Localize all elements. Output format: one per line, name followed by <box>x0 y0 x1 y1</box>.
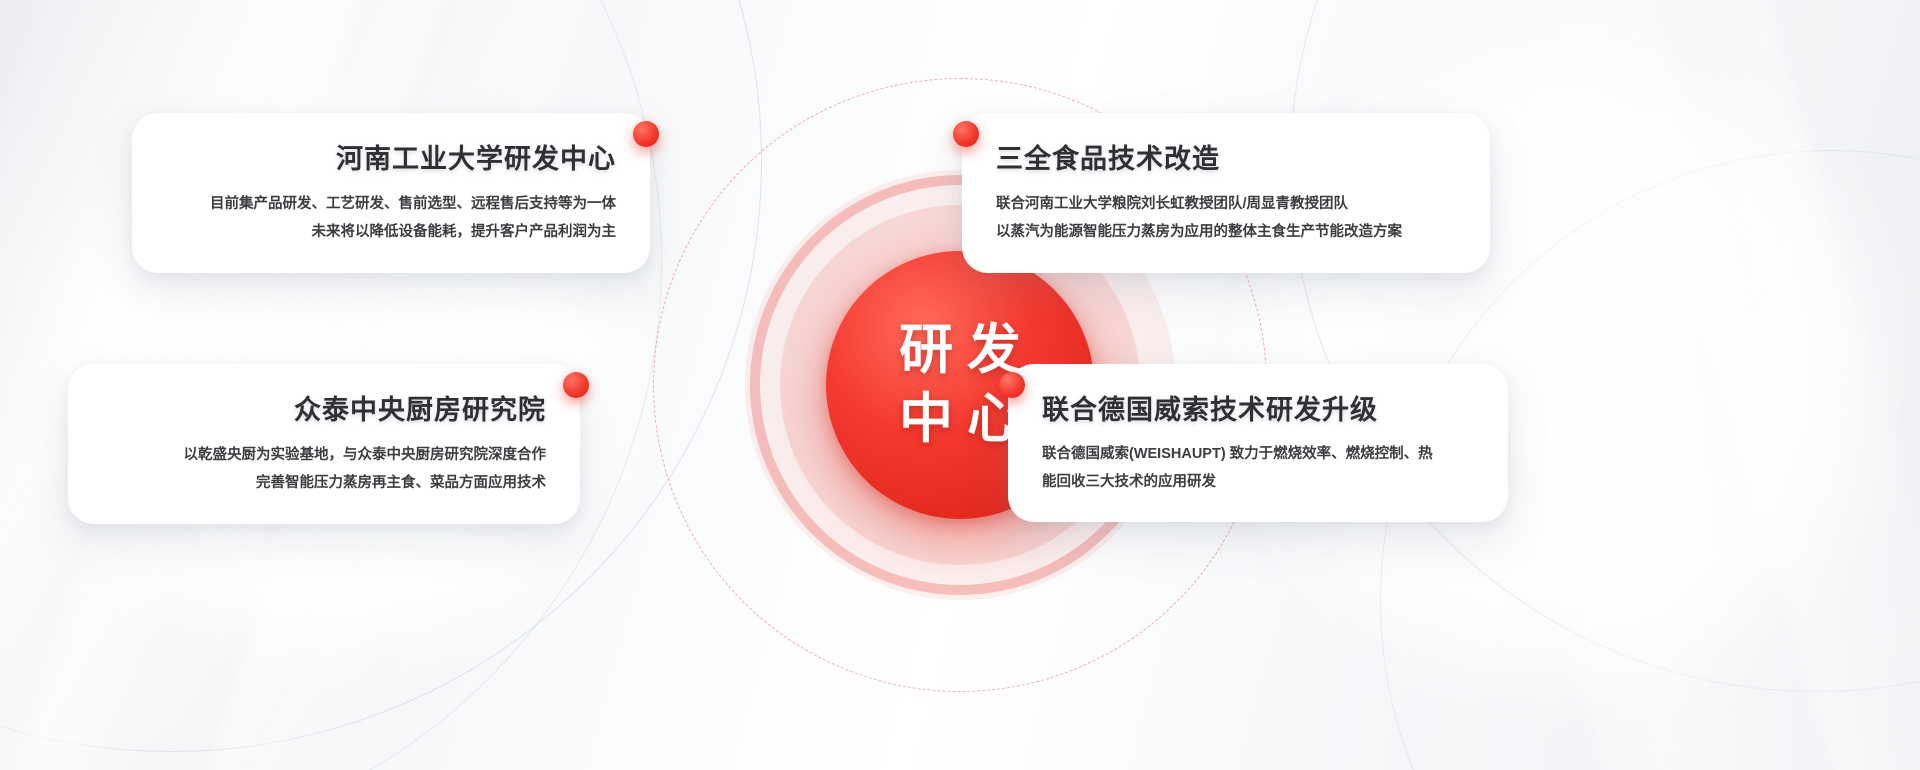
card-line: 联合德国威索(WEISHAUPT) 致力于燃烧效率、燃烧控制、热 <box>1042 441 1474 469</box>
card-line: 以乾盛央厨为实验基地，与众泰中央厨房研究院深度合作 <box>102 441 546 469</box>
card-dot-icon <box>953 121 979 147</box>
card-henan-university-rd-center[interactable]: 河南工业大学研发中心 目前集产品研发、工艺研发、售前选型、远程售后支持等为一体 … <box>132 113 650 273</box>
card-weishaupt-joint-rd-upgrade[interactable]: 联合德国威索技术研发升级 联合德国威索(WEISHAUPT) 致力于燃烧效率、燃… <box>1008 364 1508 522</box>
card-dot-icon <box>999 372 1025 398</box>
card-title: 众泰中央厨房研究院 <box>102 388 546 427</box>
card-dot-icon <box>633 121 659 147</box>
card-zhongtai-central-kitchen-institute[interactable]: 众泰中央厨房研究院 以乾盛央厨为实验基地，与众泰中央厨房研究院深度合作 完善智能… <box>68 364 580 524</box>
card-line: 未来将以降低设备能耗，提升客户产品利润为主 <box>166 218 616 246</box>
card-line: 目前集产品研发、工艺研发、售前选型、远程售后支持等为一体 <box>166 190 616 218</box>
card-dot-icon <box>563 372 589 398</box>
card-line: 能回收三大技术的应用研发 <box>1042 469 1474 497</box>
card-line: 联合河南工业大学粮院刘长虹教授团队/周显青教授团队 <box>996 190 1456 218</box>
card-title: 河南工业大学研发中心 <box>166 137 616 176</box>
card-title: 三全食品技术改造 <box>996 137 1456 176</box>
card-line: 完善智能压力蒸房再主食、菜品方面应用技术 <box>102 469 546 497</box>
card-title: 联合德国威索技术研发升级 <box>1042 388 1474 427</box>
card-line: 以蒸汽为能源智能压力蒸房为应用的整体主食生产节能改造方案 <box>996 218 1456 246</box>
card-sanquan-food-tech-upgrade[interactable]: 三全食品技术改造 联合河南工业大学粮院刘长虹教授团队/周显青教授团队 以蒸汽为能… <box>962 113 1490 273</box>
